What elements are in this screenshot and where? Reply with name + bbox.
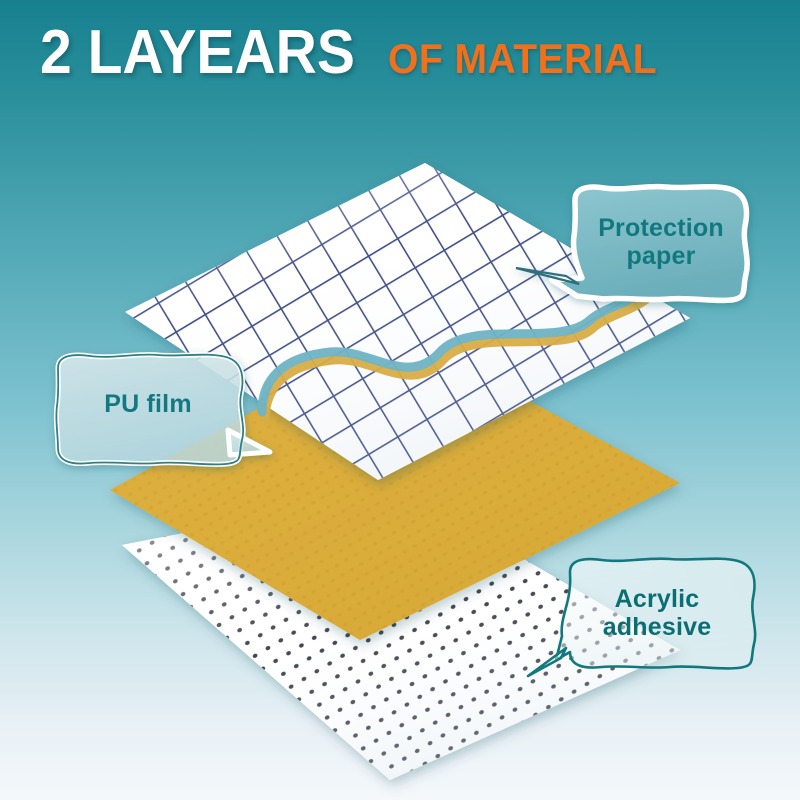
callout-label-pu-film: PU film [50,352,246,456]
callout-label-protection-paper: Protectionpaper [568,186,754,298]
callout-text-acrylic-adhesive: Acrylicadhesive [597,585,718,641]
infographic-scene: 2 LAYEARS OF MATERIAL [0,0,800,800]
callout-text-pu-film: PU film [98,390,198,418]
callout-label-acrylic-adhesive: Acrylicadhesive [562,558,752,668]
callout-text-protection-paper: Protectionpaper [592,214,730,270]
